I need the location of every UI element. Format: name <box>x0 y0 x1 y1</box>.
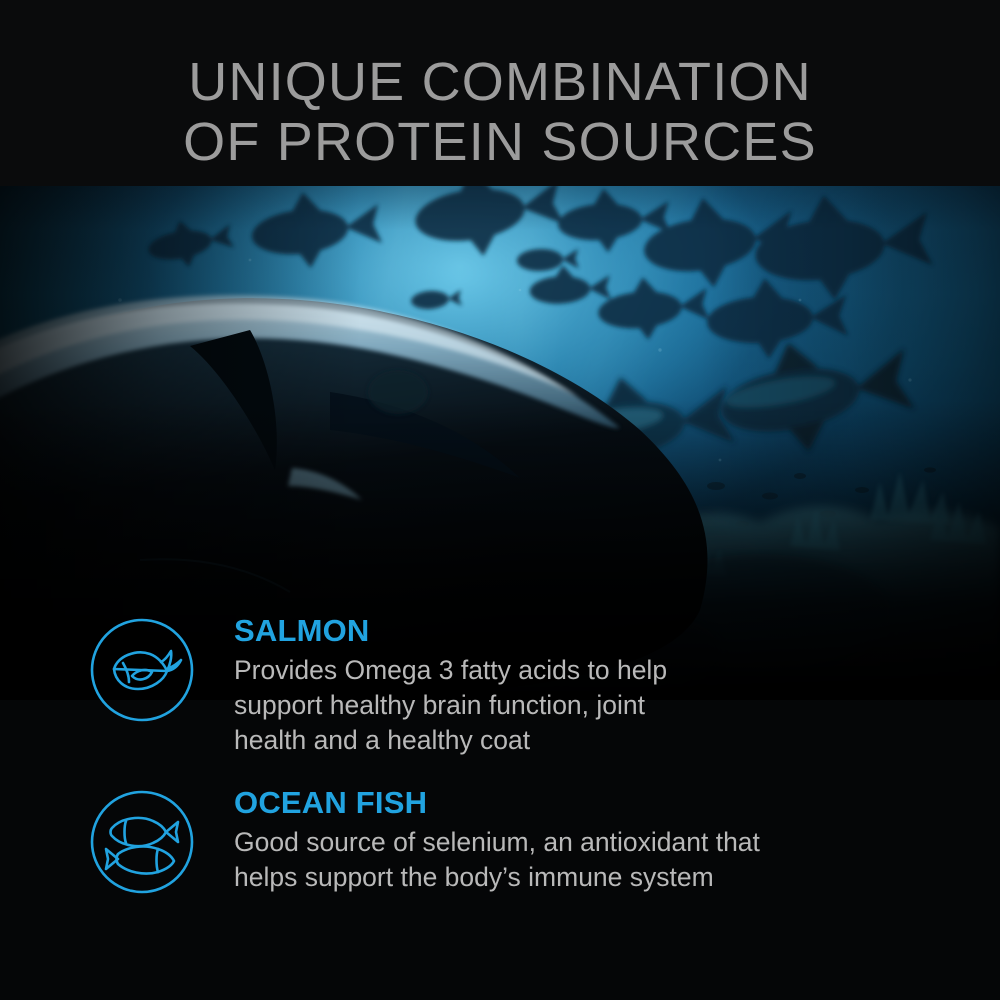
benefit-title-salmon: SALMON <box>234 614 667 649</box>
benefit-row-ocean-fish: OCEAN FISH Good source of selenium, an a… <box>0 784 1000 896</box>
benefits-list: SALMON Provides Omega 3 fatty acids to h… <box>0 612 1000 922</box>
benefit-text-salmon: SALMON Provides Omega 3 fatty acids to h… <box>196 612 667 758</box>
benefit-title-ocean-fish: OCEAN FISH <box>234 786 760 821</box>
two-fish-icon <box>88 788 196 896</box>
benefit-row-salmon: SALMON Provides Omega 3 fatty acids to h… <box>0 612 1000 758</box>
salmon-fish-icon <box>88 616 196 724</box>
benefit-description-ocean-fish: Good source of selenium, an antioxidant … <box>234 825 760 895</box>
page-title: UNIQUE COMBINATION OF PROTEIN SOURCES <box>0 0 1000 173</box>
header-banner: UNIQUE COMBINATION OF PROTEIN SOURCES <box>0 0 1000 186</box>
protein-sources-poster: UNIQUE COMBINATION OF PROTEIN SOURCES <box>0 0 1000 1000</box>
benefit-text-ocean-fish: OCEAN FISH Good source of selenium, an a… <box>196 784 760 895</box>
benefit-description-salmon: Provides Omega 3 fatty acids to help sup… <box>234 653 667 759</box>
